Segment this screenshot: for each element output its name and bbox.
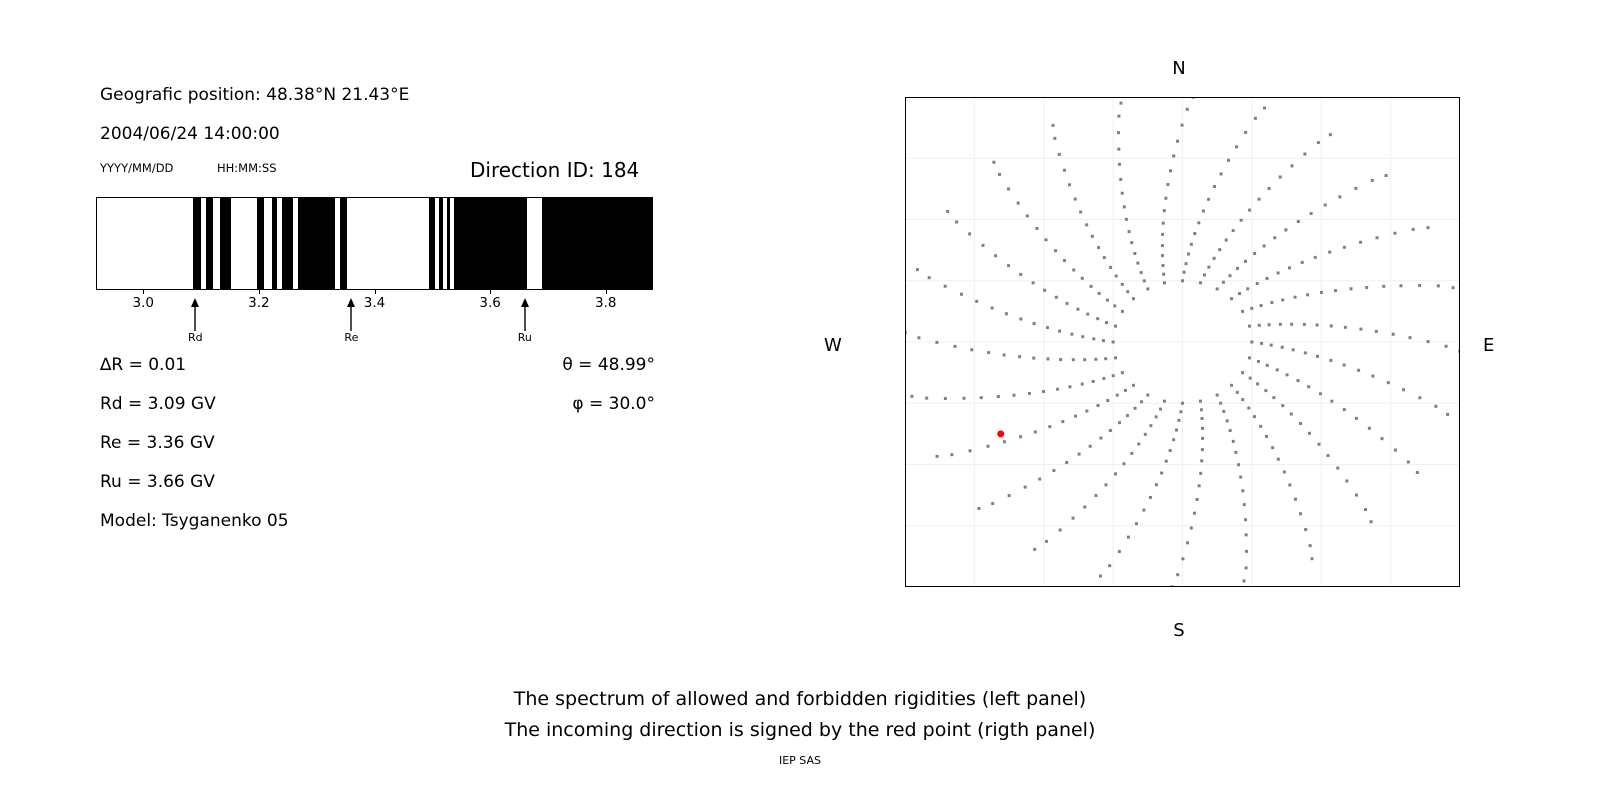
polar-scatter-svg: −1.00−0.75−0.50−0.250.000.250.500.751.00… xyxy=(905,97,1460,587)
forbidden-band xyxy=(439,198,442,289)
marker-arrow-re xyxy=(339,297,363,331)
forbidden-band xyxy=(542,198,652,289)
axis-tick xyxy=(143,290,144,294)
axis-tick-label: 3.4 xyxy=(364,295,385,311)
selected-direction-point xyxy=(997,430,1004,437)
footer-credit: IEP SAS xyxy=(0,754,1600,767)
forbidden-band xyxy=(193,198,201,289)
axis-tick xyxy=(606,290,607,294)
marker-label-re: Re xyxy=(344,331,358,344)
caption-line-2: The incoming direction is signed by the … xyxy=(0,715,1600,746)
axis-tick-label: 3.8 xyxy=(595,295,616,311)
direction-id-text: Direction ID: 184 xyxy=(470,158,639,182)
compass-label-west: W xyxy=(824,335,842,356)
caption-line-1: The spectrum of allowed and forbidden ri… xyxy=(0,684,1600,715)
time-format-hint: HH:MM:SS xyxy=(217,161,277,175)
axis-tick-label: 3.6 xyxy=(479,295,500,311)
compass-label-east: E xyxy=(1483,335,1494,356)
rigidity-spectrum-bar xyxy=(96,197,653,290)
axis-tick xyxy=(375,290,376,294)
param-rd: Rd = 3.09 GV xyxy=(100,394,216,414)
figure-caption: The spectrum of allowed and forbidden ri… xyxy=(0,684,1600,746)
forbidden-band xyxy=(429,198,435,289)
param-re: Re = 3.36 GV xyxy=(100,433,215,453)
forbidden-band xyxy=(272,198,277,289)
rigidity-spectrum-panel: Geografic position: 48.38°N 21.43°E 2004… xyxy=(0,0,760,640)
date-format-hint: YYYY/MM/DD xyxy=(100,161,173,175)
spectrum-bar-container xyxy=(96,197,653,290)
param-phi: φ = 30.0° xyxy=(572,394,655,414)
forbidden-band xyxy=(257,198,264,289)
marker-label-ru: Ru xyxy=(518,331,532,344)
marker-label-rd: Rd xyxy=(188,331,203,344)
param-model: Model: Tsyganenko 05 xyxy=(100,511,289,531)
forbidden-band xyxy=(282,198,293,289)
compass-label-north: N xyxy=(1172,58,1185,79)
datetime-text: 2004/06/24 14:00:00 xyxy=(100,124,280,144)
axis-tick-label: 3.2 xyxy=(248,295,269,311)
forbidden-band xyxy=(447,198,450,289)
forbidden-band xyxy=(454,198,527,289)
forbidden-band xyxy=(340,198,346,289)
param-delta-r: ∆R = 0.01 xyxy=(100,355,186,375)
forbidden-band xyxy=(298,198,334,289)
geographic-position-text: Geografic position: 48.38°N 21.43°E xyxy=(100,85,409,105)
param-ru: Ru = 3.66 GV xyxy=(100,472,215,492)
axis-tick xyxy=(259,290,260,294)
param-theta: θ = 48.99° xyxy=(562,355,655,375)
forbidden-band xyxy=(206,198,213,289)
forbidden-band xyxy=(220,198,231,289)
spectrum-x-axis: 3.03.23.43.63.8 xyxy=(96,290,655,304)
grid-lines xyxy=(905,97,1460,587)
marker-arrow-rd xyxy=(183,297,207,331)
compass-label-south: S xyxy=(1173,620,1184,641)
incoming-direction-panel: N S W E −1.00−0.75−0.50−0.250.000.250.50… xyxy=(800,30,1560,670)
axis-tick-label: 3.0 xyxy=(133,295,154,311)
marker-arrow-ru xyxy=(513,297,537,331)
polar-scatter-plot: −1.00−0.75−0.50−0.250.000.250.500.751.00… xyxy=(905,97,1460,587)
axis-tick xyxy=(490,290,491,294)
